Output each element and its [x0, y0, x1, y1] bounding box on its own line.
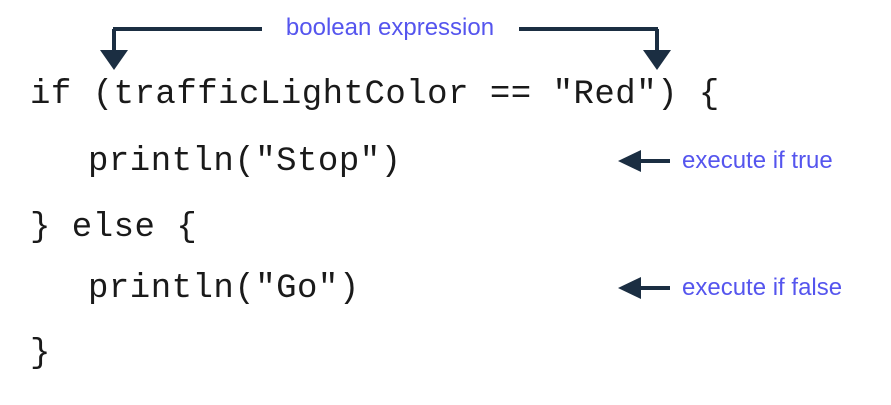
boolean-expression-label: boolean expression [265, 15, 515, 41]
code-line-if-statement: if (trafficLightColor == "Red") { [30, 78, 720, 112]
code-line-else: } else { [30, 211, 197, 245]
arrow-down-icon-left [100, 50, 128, 70]
annotation-label-execute-if-false: execute if false [682, 275, 842, 301]
arrow-left-icon [618, 277, 670, 299]
arrow-left-icon [618, 150, 670, 172]
code-line-println-go: println("Go") [88, 272, 360, 306]
code-line-closing-brace: } [30, 337, 51, 371]
arrow-down-icon-right [643, 50, 671, 70]
annotation-label-execute-if-true: execute if true [682, 148, 833, 174]
code-line-println-stop: println("Stop") [88, 145, 402, 179]
annotation-execute-if-false: execute if false [618, 275, 842, 301]
annotation-execute-if-true: execute if true [618, 148, 833, 174]
figure-canvas: boolean expression if (trafficLightColor… [0, 0, 891, 405]
